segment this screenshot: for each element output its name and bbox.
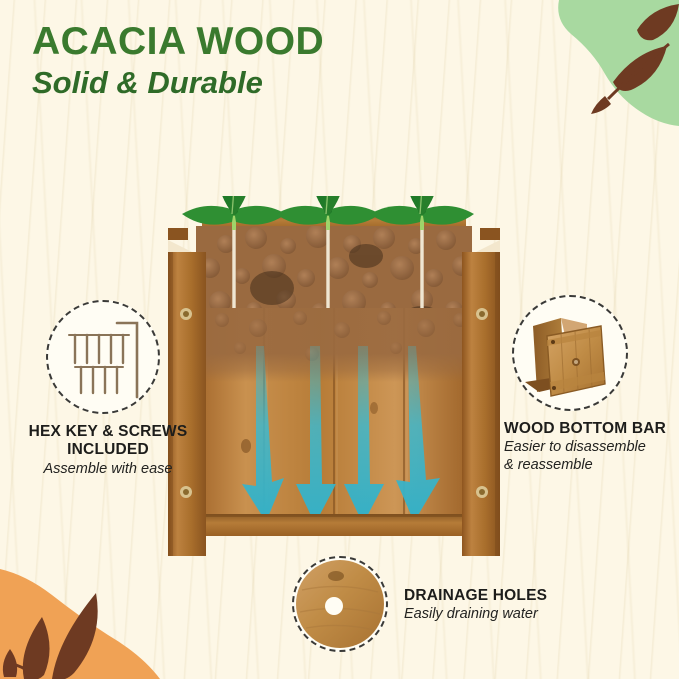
wood-disc-with-hole-icon	[296, 560, 384, 648]
callout-wood-bottom-bar: WOOD BOTTOM BAR Easier to disassemble & …	[500, 295, 679, 474]
caption-hex-key-screws: HEX KEY & SCREWS INCLUDED Assemble with …	[8, 423, 208, 478]
wood-bottom-panel-icon	[517, 300, 623, 406]
product-illustration-planter-box	[160, 196, 508, 556]
page-title: ACACIA WOOD	[32, 22, 324, 63]
caption-drainage-holes: DRAINAGE HOLES Easily draining water	[404, 585, 547, 624]
decoration-bottom-left	[0, 551, 176, 679]
callout-title: WOOD BOTTOM BAR	[504, 420, 679, 438]
callout-subtitle: Easier to disassemble & reassemble	[504, 439, 679, 474]
badge-hex-key-screws	[46, 300, 160, 414]
bottom-panel-shape	[547, 326, 605, 396]
planter-bottom-rail	[196, 514, 472, 536]
screws-and-hex-key-icon	[51, 305, 155, 409]
callout-subtitle: Assemble with ease	[8, 461, 208, 478]
callout-subtitle: Easily draining water	[404, 606, 547, 623]
badge-wood-bottom-bar	[512, 295, 628, 411]
caption-wood-bottom-bar: WOOD BOTTOM BAR Easier to disassemble & …	[504, 420, 679, 474]
planter-corner-post-right	[462, 228, 500, 556]
decoration-top-right	[509, 0, 679, 126]
page-subtitle: Solid & Durable	[32, 66, 324, 100]
headline-block: ACACIA WOOD Solid & Durable	[32, 22, 324, 100]
badge-drainage-holes	[292, 556, 388, 652]
callout-title: DRAINAGE HOLES	[404, 587, 547, 605]
drainage-hole-shape	[325, 597, 343, 615]
callout-drainage-holes: DRAINAGE HOLES Easily draining water	[292, 556, 582, 652]
wood-knot	[328, 571, 344, 581]
callout-hex-key-screws: HEX KEY & SCREWS INCLUDED Assemble with …	[8, 300, 208, 478]
callout-title: HEX KEY & SCREWS INCLUDED	[8, 423, 208, 460]
infographic-canvas: ACACIA WOOD Solid & Durable	[0, 0, 679, 679]
